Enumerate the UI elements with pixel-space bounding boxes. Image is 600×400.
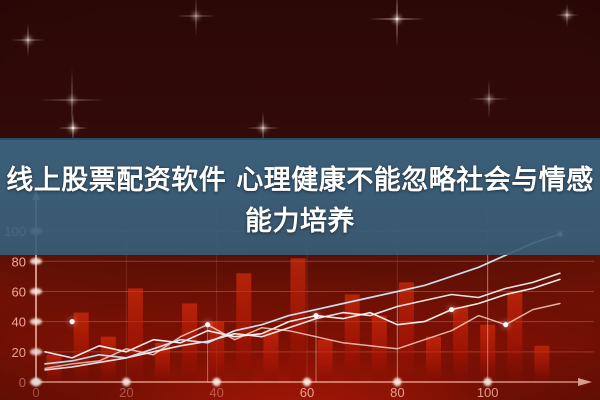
chart-marker bbox=[313, 313, 318, 318]
chart-marker bbox=[70, 319, 75, 324]
chart-marker bbox=[503, 322, 508, 327]
banner-image: 020406080100020406080100 线上股票配资软件 心理健康不能… bbox=[0, 0, 600, 400]
chart-marker bbox=[449, 307, 454, 312]
chart-marker bbox=[205, 322, 210, 327]
page-title: 线上股票配资软件 心理健康不能忽略社会与情感 能力培养 bbox=[0, 160, 600, 242]
x-axis-arrow bbox=[578, 378, 592, 386]
y-tick-label: 40 bbox=[12, 315, 26, 330]
y-tick-label: 20 bbox=[12, 345, 26, 360]
x-tick-label: 40 bbox=[209, 385, 223, 400]
y-tick-label: 60 bbox=[12, 284, 26, 299]
title-line-1: 线上股票配资软件 心理健康不能忽略社会与情感 bbox=[0, 160, 600, 201]
x-tick-label: 80 bbox=[390, 385, 404, 400]
title-line-2: 能力培养 bbox=[0, 201, 600, 242]
y-tick-label: 80 bbox=[12, 254, 26, 269]
x-tick-label: 100 bbox=[477, 385, 499, 400]
x-tick-label: 20 bbox=[119, 385, 133, 400]
x-tick-label: 0 bbox=[32, 385, 39, 400]
x-tick-label: 60 bbox=[300, 385, 314, 400]
y-tick-label: 0 bbox=[19, 375, 26, 390]
